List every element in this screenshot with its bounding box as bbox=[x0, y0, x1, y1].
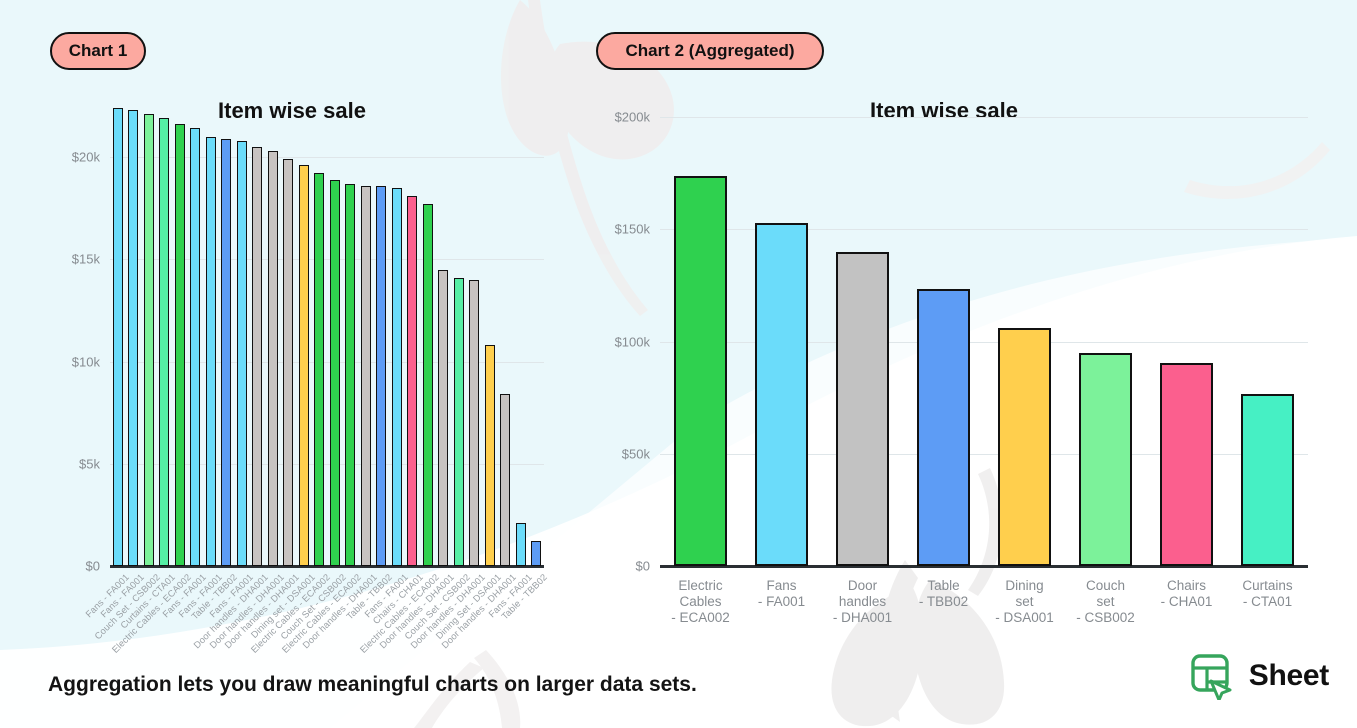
bar bbox=[531, 541, 541, 566]
x-axis-tick-label-line: Curtains bbox=[1227, 578, 1308, 594]
badge-chart-2: Chart 2 (Aggregated) bbox=[596, 32, 824, 70]
bar bbox=[454, 278, 464, 566]
chart-2-plot-area: $0$50k$100k$150k$200kElectricCables- ECA… bbox=[586, 90, 1326, 650]
chart-1-panel: Item wise sale $0$5k$10k$15k$20kFans - F… bbox=[36, 90, 596, 650]
sheet-grid-cursor-icon bbox=[1189, 652, 1237, 700]
x-axis-tick-label-line: Fans bbox=[741, 578, 822, 594]
chart-2-panel: Item wise sale $0$50k$100k$150k$200kElec… bbox=[586, 90, 1326, 650]
bar bbox=[345, 184, 355, 566]
bar bbox=[755, 223, 808, 566]
x-axis-tick-label-line: Cables bbox=[660, 594, 741, 610]
y-axis-tick-label: $200k bbox=[598, 110, 650, 125]
bar bbox=[392, 188, 402, 566]
gridline bbox=[660, 117, 1308, 118]
bar bbox=[917, 289, 970, 566]
x-axis-tick-label-line: Door bbox=[822, 578, 903, 594]
x-axis-tick-label: Fans- FA001 bbox=[741, 578, 822, 610]
bar bbox=[252, 147, 262, 566]
y-axis-tick-label: $20k bbox=[48, 150, 100, 165]
bar bbox=[237, 141, 247, 566]
x-axis-tick-label: Table- TBB02 bbox=[903, 578, 984, 610]
badge-chart-2-label: Chart 2 (Aggregated) bbox=[625, 41, 794, 61]
bar bbox=[500, 394, 510, 566]
bar bbox=[221, 139, 231, 566]
x-axis-tick-label: Couchset- CSB002 bbox=[1065, 578, 1146, 626]
bar bbox=[674, 176, 727, 566]
y-axis-tick-label: $0 bbox=[48, 559, 100, 574]
bar bbox=[1241, 394, 1294, 566]
y-axis-tick-label: $15k bbox=[48, 252, 100, 267]
x-axis-tick-label: Curtains- CTA01 bbox=[1227, 578, 1308, 610]
x-axis-tick-label-line: - CHA01 bbox=[1146, 594, 1227, 610]
brand-logo: Sheet bbox=[1189, 650, 1329, 702]
bar bbox=[469, 280, 479, 566]
bar bbox=[485, 345, 495, 566]
x-axis-tick-label: ElectricCables- ECA002 bbox=[660, 578, 741, 626]
x-axis-tick-label-line: set bbox=[984, 594, 1065, 610]
bar bbox=[159, 118, 169, 566]
bar bbox=[998, 328, 1051, 566]
x-axis-tick-label-line: Chairs bbox=[1146, 578, 1227, 594]
x-axis-tick-label-line: - DHA001 bbox=[822, 610, 903, 626]
x-axis-tick-label-line: Table bbox=[903, 578, 984, 594]
x-axis-tick-label-line: - CTA01 bbox=[1227, 594, 1308, 610]
footer-caption: Aggregation lets you draw meaningful cha… bbox=[48, 673, 697, 697]
x-axis-tick-label-line: - TBB02 bbox=[903, 594, 984, 610]
x-axis-tick-label: Chairs- CHA01 bbox=[1146, 578, 1227, 610]
y-axis-tick-label: $50k bbox=[598, 446, 650, 461]
x-axis-tick-label-line: - FA001 bbox=[741, 594, 822, 610]
bar bbox=[423, 204, 433, 566]
bar bbox=[438, 270, 448, 566]
brand-name: Sheet bbox=[1249, 659, 1329, 693]
y-axis-tick-label: $100k bbox=[598, 334, 650, 349]
badge-chart-1: Chart 1 bbox=[50, 32, 146, 70]
bar bbox=[516, 523, 526, 566]
x-axis-tick-label-line: handles bbox=[822, 594, 903, 610]
x-axis-tick-label-line: Couch bbox=[1065, 578, 1146, 594]
x-axis-tick-label-line: Electric bbox=[660, 578, 741, 594]
bar bbox=[206, 137, 216, 566]
bar bbox=[113, 108, 123, 566]
bar bbox=[314, 173, 324, 566]
y-axis-tick-label: $10k bbox=[48, 354, 100, 369]
bar bbox=[1079, 353, 1132, 566]
badge-chart-1-label: Chart 1 bbox=[69, 41, 128, 61]
bar bbox=[361, 186, 371, 566]
bar bbox=[376, 186, 386, 566]
bar bbox=[128, 110, 138, 566]
x-axis-tick-label: Diningset- DSA001 bbox=[984, 578, 1065, 626]
y-axis-tick-label: $0 bbox=[598, 559, 650, 574]
bar bbox=[330, 180, 340, 566]
x-axis-tick-label-line: - DSA001 bbox=[984, 610, 1065, 626]
bar bbox=[144, 114, 154, 566]
x-axis-tick-label-line: - ECA002 bbox=[660, 610, 741, 626]
bar bbox=[407, 196, 417, 566]
x-axis-tick-label-line: - CSB002 bbox=[1065, 610, 1146, 626]
y-axis-tick-label: $5k bbox=[48, 456, 100, 471]
bar bbox=[836, 252, 889, 566]
bar bbox=[299, 165, 309, 566]
x-axis-tick-label: Doorhandles- DHA001 bbox=[822, 578, 903, 626]
bar bbox=[1160, 363, 1213, 566]
bar bbox=[190, 128, 200, 566]
x-axis-tick-label-line: set bbox=[1065, 594, 1146, 610]
x-axis-tick-label-line: Dining bbox=[984, 578, 1065, 594]
bar bbox=[268, 151, 278, 566]
bar bbox=[175, 124, 185, 566]
y-axis-tick-label: $150k bbox=[598, 222, 650, 237]
bar bbox=[283, 159, 293, 566]
chart-1-plot-area: $0$5k$10k$15k$20kFans - FA001Fans - FA00… bbox=[36, 90, 596, 650]
